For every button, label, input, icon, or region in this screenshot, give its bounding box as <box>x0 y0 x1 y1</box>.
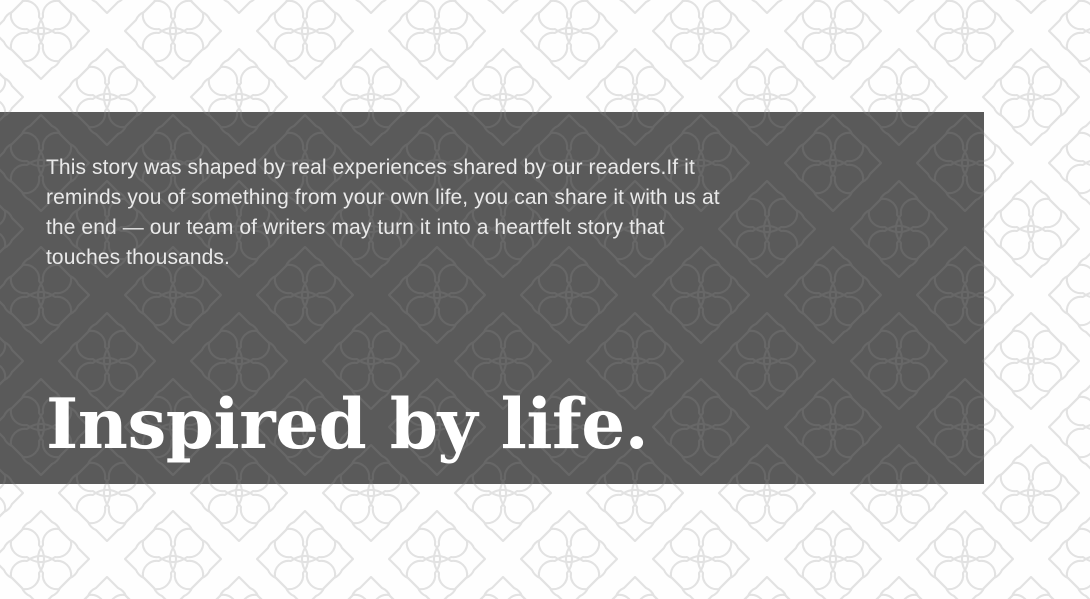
page-title: Inspired by life. Written with care. <box>46 299 726 484</box>
hero-banner: This story was shaped by real experience… <box>0 0 1090 599</box>
intro-paragraph: This story was shaped by real experience… <box>46 153 726 273</box>
headline-line-1: Inspired by life. <box>46 383 726 467</box>
panel-text-block: This story was shaped by real experience… <box>46 153 726 484</box>
content-panel: This story was shaped by real experience… <box>0 112 984 484</box>
